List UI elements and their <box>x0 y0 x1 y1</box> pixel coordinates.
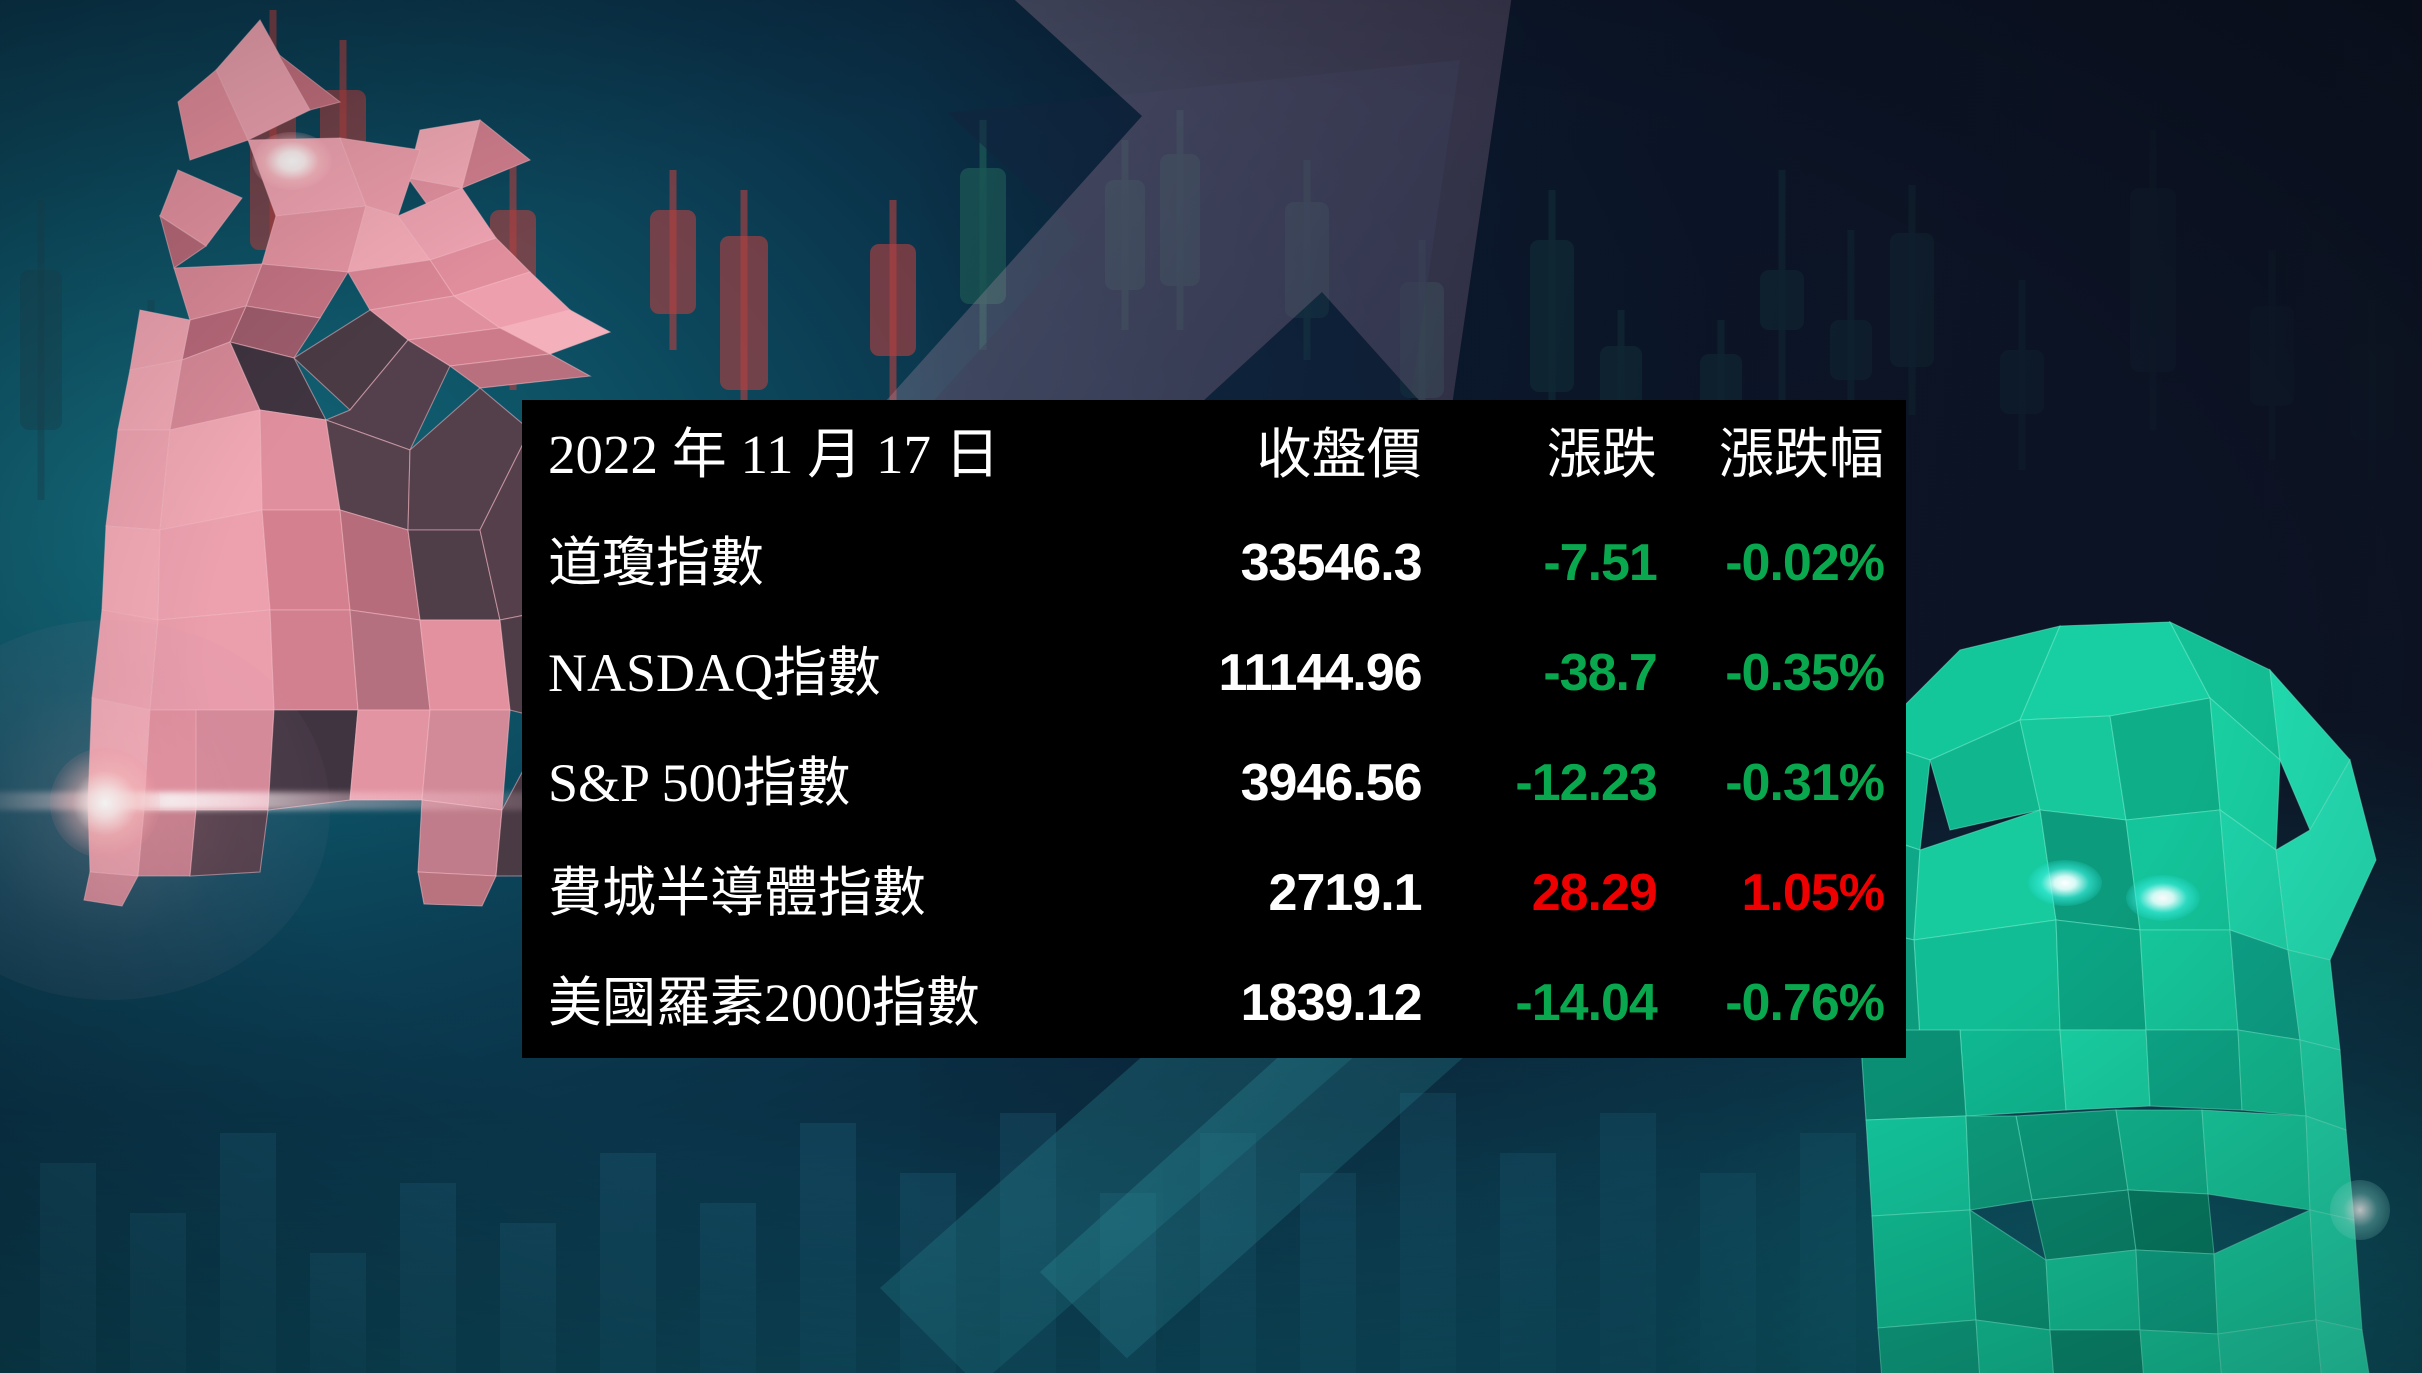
quotes-header-row: 2022 年 11 月 17 日 收盤價 漲跌 漲跌幅 <box>522 400 1906 508</box>
table-row: S&P 500指數 3946.56 -12.23 -0.31% <box>522 728 1906 838</box>
change-percent: -0.76% <box>1657 948 1906 1058</box>
close-price: 3946.56 <box>1124 728 1422 838</box>
index-name: 美國羅素2000指數 <box>522 948 1124 1058</box>
close-price: 33546.3 <box>1124 508 1422 618</box>
index-name: 費城半導體指數 <box>522 838 1124 948</box>
quotes-table-head: 2022 年 11 月 17 日 收盤價 漲跌 漲跌幅 <box>522 400 1906 508</box>
index-name: S&P 500指數 <box>522 728 1124 838</box>
lens-flare-icon <box>50 748 160 858</box>
column-header-percent: 漲跌幅 <box>1657 400 1906 508</box>
close-price: 11144.96 <box>1124 618 1422 728</box>
quotes-table: 2022 年 11 月 17 日 收盤價 漲跌 漲跌幅 道瓊指數 33546.3… <box>522 400 1906 1058</box>
bear-glint-icon <box>2330 1180 2390 1240</box>
bull-eye-glow-icon <box>252 132 332 190</box>
column-header-change: 漲跌 <box>1422 400 1657 508</box>
close-price: 2719.1 <box>1124 838 1422 948</box>
table-row: 道瓊指數 33546.3 -7.51 -0.02% <box>522 508 1906 618</box>
change-value: 28.29 <box>1422 838 1657 948</box>
change-percent: 1.05% <box>1657 838 1906 948</box>
change-percent: -0.31% <box>1657 728 1906 838</box>
table-row: 費城半導體指數 2719.1 28.29 1.05% <box>522 838 1906 948</box>
change-value: -14.04 <box>1422 948 1657 1058</box>
close-price: 1839.12 <box>1124 948 1422 1058</box>
stock-market-graphic: 2022 年 11 月 17 日 收盤價 漲跌 漲跌幅 道瓊指數 33546.3… <box>0 0 2422 1373</box>
quotes-table-body: 道瓊指數 33546.3 -7.51 -0.02% NASDAQ指數 11144… <box>522 508 1906 1058</box>
change-value: -12.23 <box>1422 728 1657 838</box>
change-value: -7.51 <box>1422 508 1657 618</box>
column-header-close: 收盤價 <box>1124 400 1422 508</box>
bear-right-eye-glow-icon <box>2126 875 2200 921</box>
change-value: -38.7 <box>1422 618 1657 728</box>
index-name: 道瓊指數 <box>522 508 1124 618</box>
change-percent: -0.02% <box>1657 508 1906 618</box>
table-row: NASDAQ指數 11144.96 -38.7 -0.35% <box>522 618 1906 728</box>
index-name: NASDAQ指數 <box>522 618 1124 728</box>
quotes-panel: 2022 年 11 月 17 日 收盤價 漲跌 漲跌幅 道瓊指數 33546.3… <box>522 400 1906 1058</box>
bear-left-eye-glow-icon <box>2028 860 2102 906</box>
change-percent: -0.35% <box>1657 618 1906 728</box>
date-header: 2022 年 11 月 17 日 <box>522 400 1124 508</box>
table-row: 美國羅素2000指數 1839.12 -14.04 -0.76% <box>522 948 1906 1058</box>
